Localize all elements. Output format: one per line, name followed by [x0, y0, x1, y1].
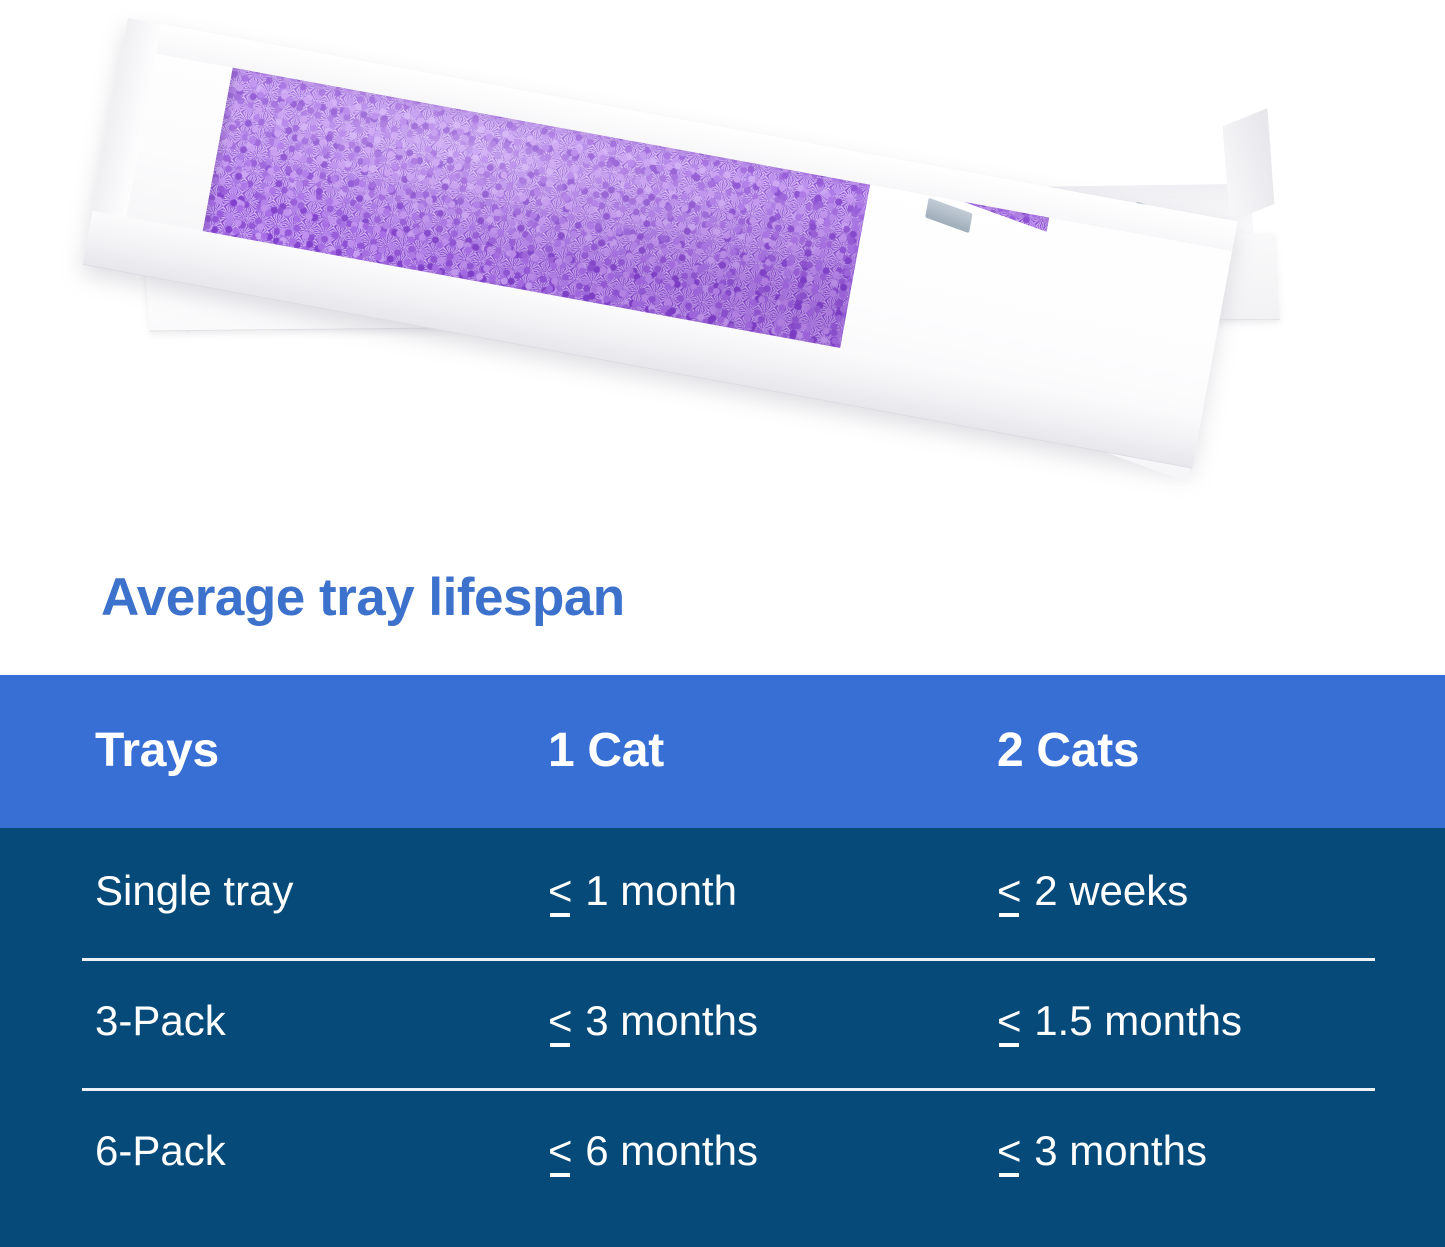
lifespan-table: Trays 1 Cat 2 Cats Single tray < 1 month…	[0, 675, 1445, 1247]
cell-one-cat-lifespan: < 1 month	[548, 870, 737, 912]
less-than-or-equal-icon: <	[997, 1000, 1023, 1042]
table-body: Single tray < 1 month < 2 weeks 3-Pack <…	[0, 828, 1445, 1247]
cell-tray-type: 3-Pack	[95, 1000, 226, 1042]
product-photo	[0, 0, 1445, 560]
cell-one-cat-lifespan: < 3 months	[548, 1000, 758, 1042]
column-header-one-cat: 1 Cat	[548, 727, 664, 775]
cell-value: 3 months	[1023, 1127, 1207, 1174]
less-than-or-equal-icon: <	[548, 1000, 574, 1042]
operator-glyph: <	[548, 867, 573, 914]
operator-underbar	[550, 913, 570, 917]
operator-glyph: <	[997, 1127, 1022, 1174]
operator-underbar	[999, 913, 1019, 917]
operator-underbar	[999, 1043, 1019, 1047]
cell-value: 6 months	[574, 1127, 758, 1174]
operator-underbar	[550, 1043, 570, 1047]
cell-tray-type: Single tray	[95, 870, 293, 912]
table-row: 3-Pack < 3 months < 1.5 months	[0, 958, 1445, 1088]
table-row: 6-Pack < 6 months < 3 months	[0, 1088, 1445, 1218]
operator-glyph: <	[548, 997, 573, 1044]
cell-value: 1.5 months	[1023, 997, 1242, 1044]
tray-scene	[0, 0, 1445, 560]
cell-value: 2 weeks	[1023, 867, 1189, 914]
less-than-or-equal-icon: <	[997, 1130, 1023, 1172]
cell-tray-type: 6-Pack	[95, 1130, 226, 1172]
cell-value: 3 months	[574, 997, 758, 1044]
operator-underbar	[550, 1173, 570, 1177]
cell-two-cats-lifespan: < 2 weeks	[997, 870, 1188, 912]
less-than-or-equal-icon: <	[548, 870, 574, 912]
table-row: Single tray < 1 month < 2 weeks	[0, 828, 1445, 958]
cell-two-cats-lifespan: < 3 months	[997, 1130, 1207, 1172]
cell-value: 1 month	[574, 867, 737, 914]
tray-right-wall	[1223, 108, 1275, 222]
operator-glyph: <	[997, 997, 1022, 1044]
less-than-or-equal-icon: <	[548, 1130, 574, 1172]
filled-litter-tray	[74, 18, 1240, 517]
infographic-page: Average tray lifespan Trays 1 Cat 2 Cats…	[0, 0, 1445, 1247]
page-title: Average tray lifespan	[101, 571, 625, 624]
operator-glyph: <	[997, 867, 1022, 914]
cell-two-cats-lifespan: < 1.5 months	[997, 1000, 1242, 1042]
operator-underbar	[999, 1173, 1019, 1177]
cell-one-cat-lifespan: < 6 months	[548, 1130, 758, 1172]
less-than-or-equal-icon: <	[997, 870, 1023, 912]
column-header-trays: Trays	[95, 727, 219, 775]
column-header-two-cats: 2 Cats	[997, 727, 1139, 775]
operator-glyph: <	[548, 1127, 573, 1174]
table-header-row: Trays 1 Cat 2 Cats	[0, 675, 1445, 828]
